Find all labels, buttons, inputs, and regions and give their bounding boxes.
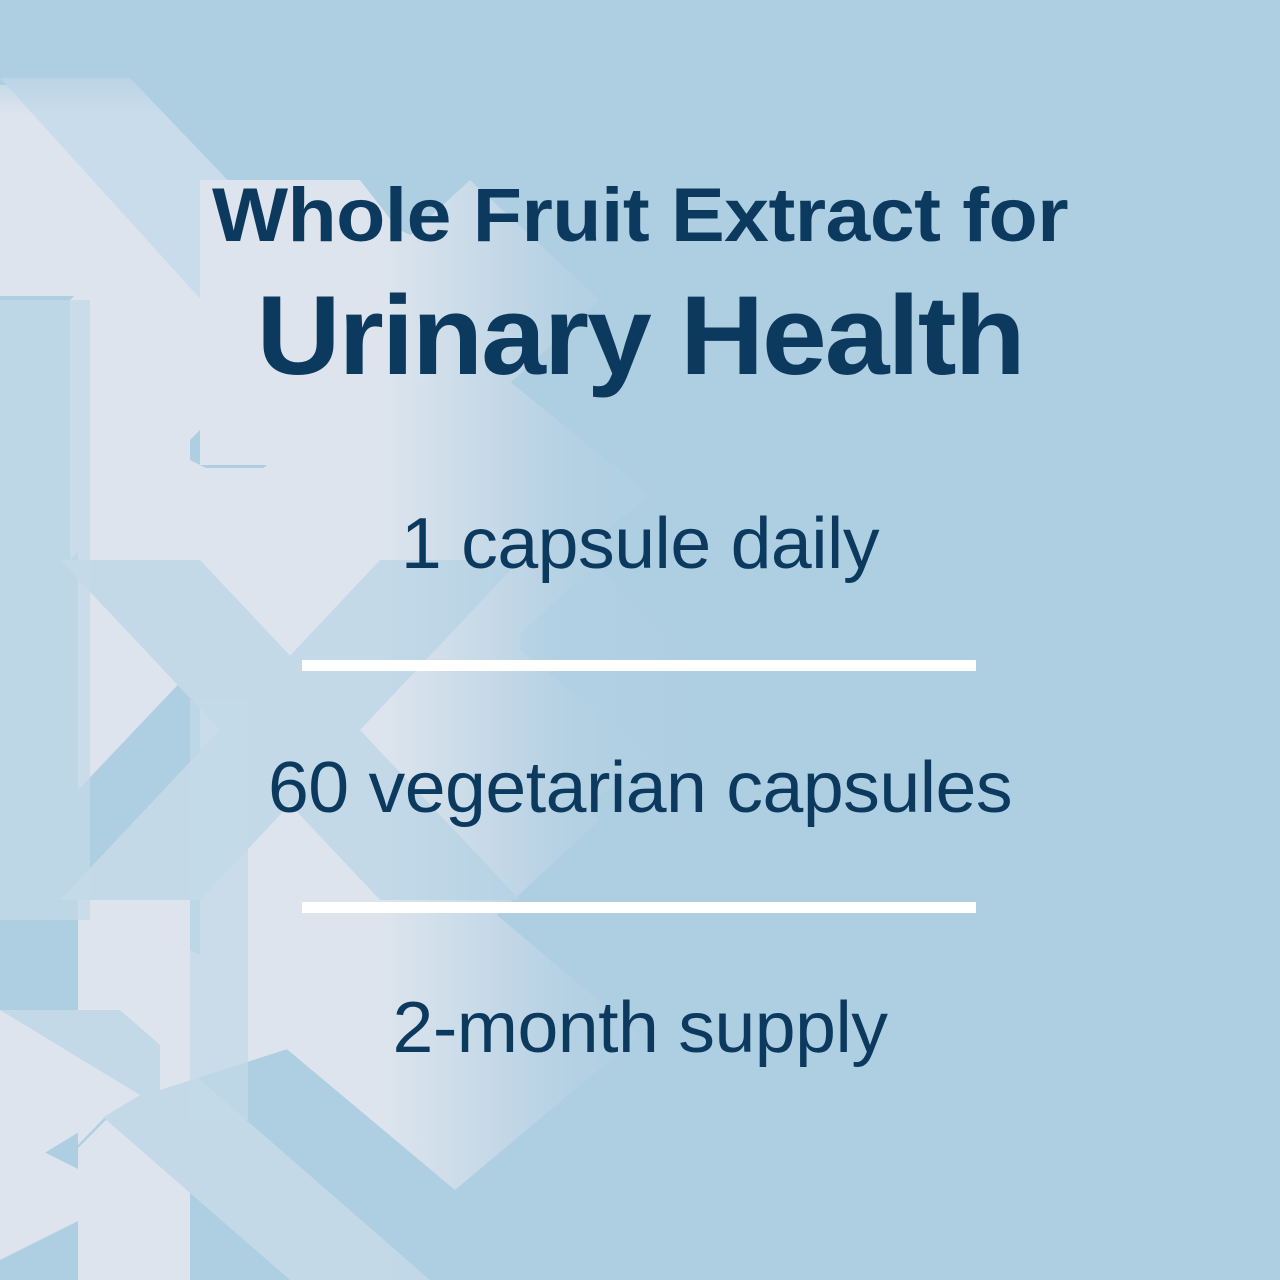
fact-capsule-count: 60 vegetarian capsules [0, 752, 1280, 824]
divider-after-dosage [302, 660, 976, 671]
page-title: Urinary Health [0, 280, 1280, 392]
divider-after-count [302, 902, 976, 913]
product-infographic-card: Whole Fruit Extract for Urinary Health 1… [0, 0, 1280, 1280]
headline-eyebrow: Whole Fruit Extract for [0, 178, 1280, 254]
infographic-content: Whole Fruit Extract for Urinary Health 1… [0, 0, 1280, 1280]
fact-dosage: 1 capsule daily [0, 508, 1280, 580]
fact-supply-duration: 2-month supply [0, 992, 1280, 1064]
headline-block: Whole Fruit Extract for Urinary Health [0, 178, 1280, 392]
